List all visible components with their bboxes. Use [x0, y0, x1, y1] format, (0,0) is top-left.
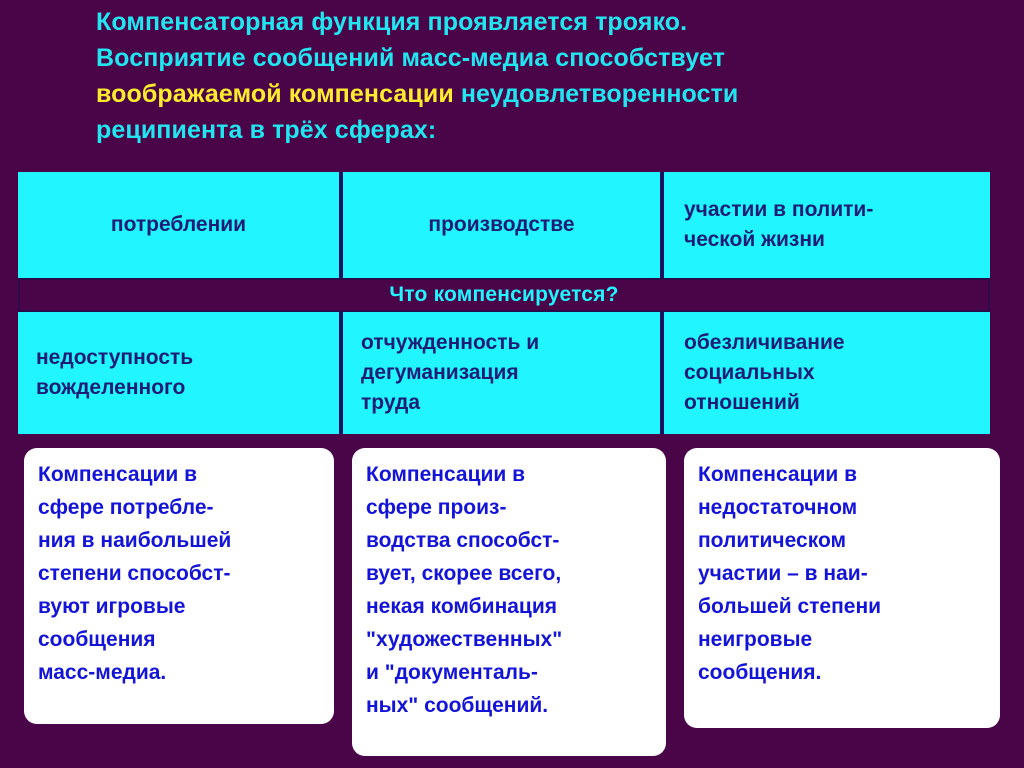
matrix-cell-text: участии в полити- — [684, 195, 873, 225]
matrix-cell-text: отчужденность и — [361, 328, 539, 358]
card-politics: Компенсации в недостаточном политическом… — [684, 448, 1000, 728]
card-line: вует, скорее всего, — [366, 557, 652, 590]
heading-line-1: Компенсаторная функция проявляется трояк… — [96, 4, 986, 40]
compensation-matrix: потреблении производстве участии в полит… — [18, 172, 990, 434]
card-line: масс-медиа. — [38, 656, 320, 689]
card-line: сфере произ- — [366, 491, 652, 524]
card-line: политическом — [698, 524, 986, 557]
card-line: сообщения. — [698, 656, 986, 689]
matrix-cell-text: недоступность — [36, 343, 193, 373]
heading-line-2: Восприятие сообщений масс-медиа способст… — [96, 40, 986, 76]
card-line: Компенсации в — [698, 458, 986, 491]
matrix-cell-text: вожделенного — [36, 373, 185, 403]
card-line: Компенсации в — [38, 458, 320, 491]
heading-line-4: реципиента в трёх сферах: — [96, 112, 986, 148]
matrix-cell-text: дегуманизация — [361, 358, 519, 388]
matrix-cell-text: обезличивание — [684, 328, 845, 358]
matrix-cell-text: отношений — [684, 388, 800, 418]
card-line: и "документаль- — [366, 656, 652, 689]
matrix-cell-text: труда — [361, 388, 420, 418]
slide-heading: Компенсаторная функция проявляется трояк… — [96, 4, 986, 148]
card-line: сообщения — [38, 623, 320, 656]
card-line: ных" сообщений. — [366, 689, 652, 722]
card-line: ния в наибольшей — [38, 524, 320, 557]
card-line: степени способст- — [38, 557, 320, 590]
card-line: "художественных" — [366, 623, 652, 656]
card-line: большей степени — [698, 590, 986, 623]
card-line: недостаточном — [698, 491, 986, 524]
matrix-cell-consumption: потреблении — [18, 172, 339, 278]
question-band-label: Что компенсируется? — [389, 283, 618, 307]
card-line: водства способст- — [366, 524, 652, 557]
card-production: Компенсации в сфере произ- водства спосо… — [352, 448, 666, 756]
matrix-cell-text: производстве — [428, 210, 574, 240]
question-band: Что компенсируется? — [18, 278, 990, 312]
card-line: участии – в наи- — [698, 557, 986, 590]
matrix-cell-politics-answer: обезличивание социальных отношений — [660, 312, 990, 434]
card-line: неигровые — [698, 623, 986, 656]
card-consumption: Компенсации в сфере потребле- ния в наиб… — [24, 448, 334, 724]
card-line: вуют игровые — [38, 590, 320, 623]
matrix-cell-text: потреблении — [111, 210, 246, 240]
heading-line-3-rest: неудовлетворенности — [454, 80, 739, 108]
heading-line-3: воображаемой компенсации неудовлетворенн… — [96, 76, 986, 112]
matrix-cell-politics: участии в полити- ческой жизни — [660, 172, 990, 278]
matrix-cell-text: ческой жизни — [684, 225, 825, 255]
matrix-cell-text: социальных — [684, 358, 815, 388]
matrix-cell-production-answer: отчужденность и дегуманизация труда — [339, 312, 660, 434]
matrix-cell-production: производстве — [339, 172, 660, 278]
heading-highlight: воображаемой компенсации — [96, 80, 454, 108]
card-line: Компенсации в — [366, 458, 652, 491]
matrix-cell-consumption-answer: недоступность вожделенного — [18, 312, 339, 434]
matrix-row-spheres: потреблении производстве участии в полит… — [18, 172, 990, 278]
matrix-row-answers: недоступность вожделенного отчужденность… — [18, 312, 990, 434]
card-line: сфере потребле- — [38, 491, 320, 524]
card-line: некая комбинация — [366, 590, 652, 623]
